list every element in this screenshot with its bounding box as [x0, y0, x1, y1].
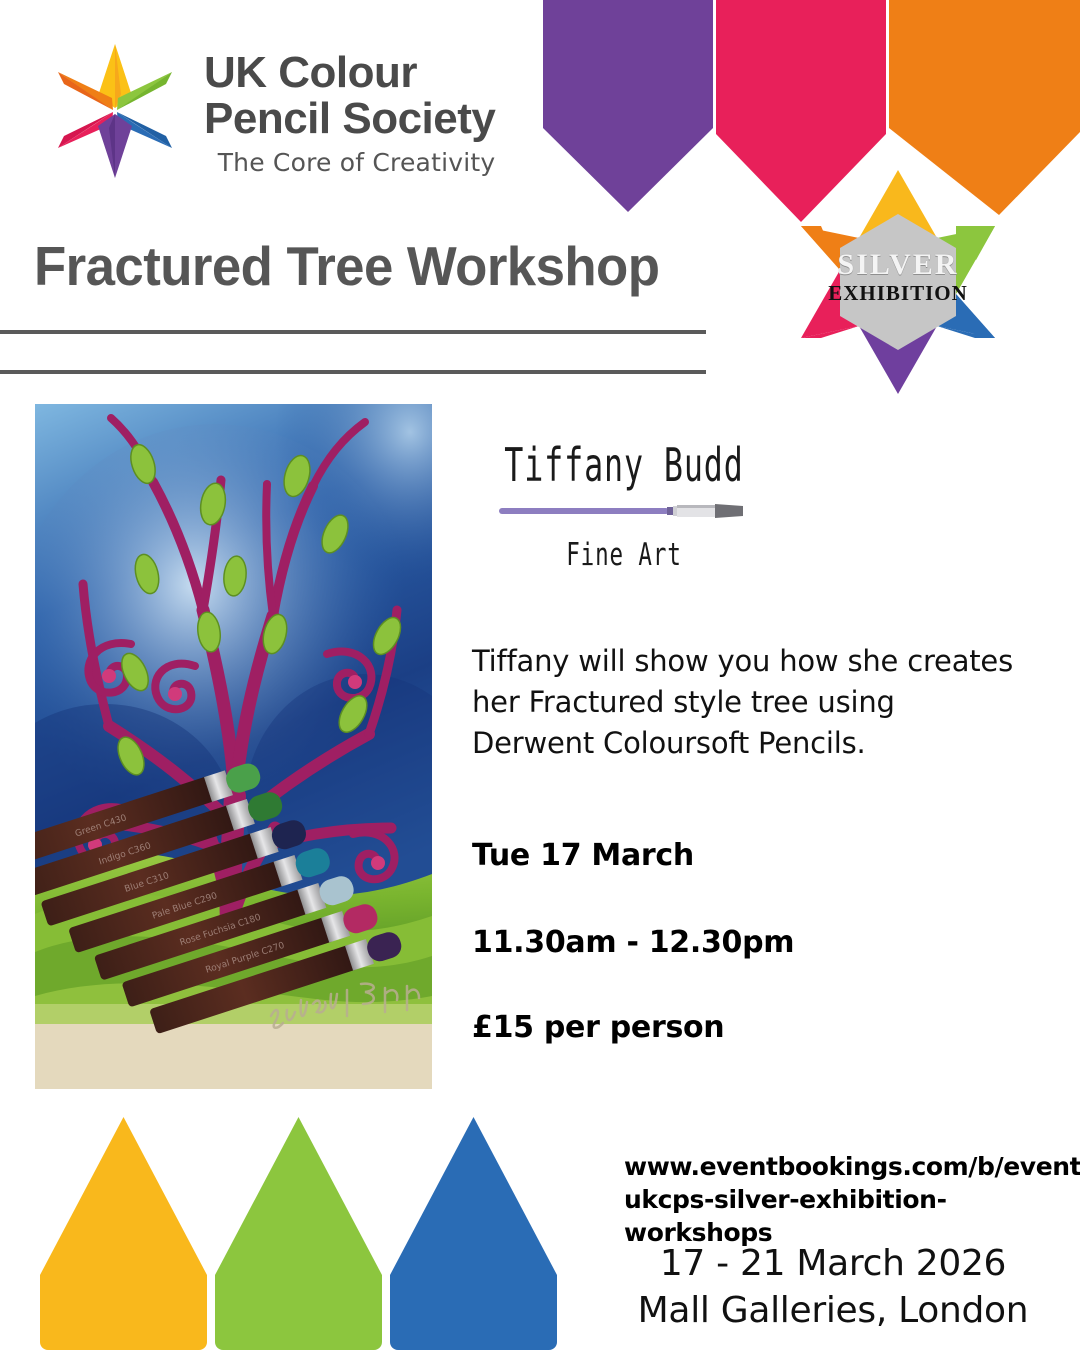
artist-name: Tiffany Budd [492, 440, 756, 492]
logo-tagline: The Core of Creativity [204, 148, 495, 177]
artist-signature-block: Tiffany Budd Fine Art [474, 440, 774, 565]
logo-name-line1: UK Colour [204, 50, 495, 96]
paintbrush-icon [474, 503, 774, 524]
ukcps-logo: UK Colour Pencil Society The Core of Cre… [40, 36, 495, 186]
workshop-description: Tiffany will show you how she creates he… [472, 641, 1024, 764]
artwork-illustration: Green C430 Indigo C360 Blue C310 Pale Bl… [35, 404, 432, 1089]
pennant-bottom-yellow [40, 1117, 207, 1350]
workshop-date: Tue 17 March [472, 838, 694, 873]
booking-url-line1: www.eventbookings.com/b/event/ [624, 1150, 1064, 1183]
logo-name-line2: Pencil Society [204, 96, 495, 142]
logo-wordmark: UK Colour Pencil Society The Core of Cre… [204, 36, 495, 177]
artwork-fractured-tree: Green C430 Indigo C360 Blue C310 Pale Bl… [35, 404, 432, 1089]
silver-exhibition-badge: SILVER EXHIBITION [782, 152, 1014, 410]
event-venue: Mall Galleries, London [600, 1287, 1066, 1334]
pennant-bottom-blue [390, 1117, 557, 1350]
workshop-time: 11.30am - 12.30pm [472, 925, 794, 960]
event-when-where: 17 - 21 March 2026 Mall Galleries, Londo… [600, 1240, 1066, 1334]
divider-rule-bottom [0, 370, 706, 374]
booking-url[interactable]: www.eventbookings.com/b/event/ ukcps-sil… [624, 1150, 1064, 1249]
pennant-bottom-green [215, 1117, 382, 1350]
page-title: Fractured Tree Workshop [34, 234, 659, 298]
pennant-top-purple [543, 0, 713, 212]
divider-rule-top [0, 330, 706, 334]
six-point-colour-star-icon [40, 36, 190, 186]
poster-canvas: UK Colour Pencil Society The Core of Cre… [0, 0, 1080, 1350]
artist-subtitle: Fine Art [489, 536, 759, 572]
workshop-price: £15 per person [472, 1010, 724, 1045]
event-dates: 17 - 21 March 2026 [600, 1240, 1066, 1287]
six-point-star-icon [782, 152, 1014, 410]
